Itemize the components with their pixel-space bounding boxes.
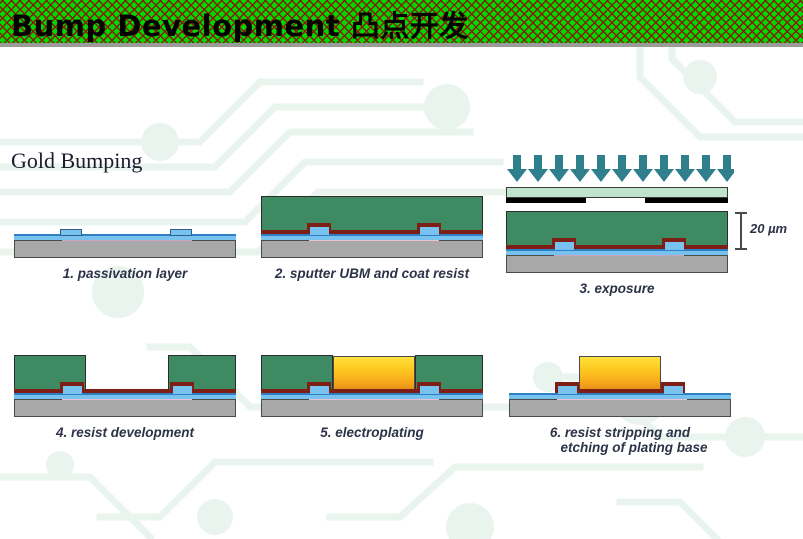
passivation-layer xyxy=(506,250,728,255)
pad-opening-1 xyxy=(60,229,82,236)
pad-opening-2 xyxy=(664,386,683,394)
ubm-layer xyxy=(14,389,236,393)
pad-opening-2 xyxy=(170,229,192,236)
substrate-layer xyxy=(14,399,236,417)
substrate-layer xyxy=(261,240,483,258)
photomask xyxy=(506,187,734,203)
step-3-caption: 3. exposure xyxy=(506,281,728,296)
uv-exposure-arrows xyxy=(506,155,734,183)
pad-opening-2 xyxy=(420,386,439,394)
passivation-layer xyxy=(509,394,731,399)
substrate-layer xyxy=(261,399,483,417)
page-title: Bump Development 凸点开发 xyxy=(11,3,469,45)
mask-chrome-right xyxy=(645,198,728,203)
step-4-diagram: 4. resist development xyxy=(14,355,242,437)
passivation-outline xyxy=(261,393,483,395)
passivation-layer xyxy=(261,394,483,399)
step-2-caption: 2. sputter UBM and coat resist xyxy=(252,266,492,281)
step-6-caption-line2: etching of plating base xyxy=(516,440,752,455)
pad-opening-1 xyxy=(310,227,329,235)
gold-bump xyxy=(579,356,661,390)
ubm-layer xyxy=(261,389,483,393)
step-2-diagram: 2. sputter UBM and coat resist xyxy=(258,196,486,278)
step-6-caption-line1: 6. resist stripping and xyxy=(502,425,738,440)
pad-opening-1 xyxy=(558,386,577,394)
mask-glass-plate xyxy=(506,187,728,198)
pad-opening-2 xyxy=(665,242,684,250)
step-5-diagram: 5. electroplating xyxy=(258,355,486,437)
passivation-layer xyxy=(261,235,483,240)
mask-chrome-left xyxy=(506,198,586,203)
step-6-diagram: 6. resist stripping and etching of plati… xyxy=(506,355,742,450)
substrate-layer xyxy=(14,240,236,258)
passivation-outline xyxy=(506,249,728,251)
resist-layer xyxy=(261,196,483,232)
step-1-diagram: 1. passivation layer xyxy=(14,228,236,278)
pad-opening-1 xyxy=(310,386,329,394)
step-5-caption: 5. electroplating xyxy=(254,425,490,440)
passivation-outline xyxy=(14,234,236,236)
ubm-layer xyxy=(579,389,661,393)
passivation-outline xyxy=(509,393,731,395)
step-1-caption: 1. passivation layer xyxy=(10,266,240,281)
ubm-layer xyxy=(261,230,483,234)
passivation-outline xyxy=(14,393,236,395)
passivation-layer xyxy=(14,235,236,240)
pad-opening-1 xyxy=(63,386,82,394)
section-heading: Gold Bumping xyxy=(11,148,142,174)
pad-opening-2 xyxy=(420,227,439,235)
step-4-caption: 4. resist development xyxy=(10,425,240,440)
passivation-outline xyxy=(261,234,483,236)
pad-opening-2 xyxy=(173,386,192,394)
substrate-layer xyxy=(506,255,728,273)
ubm-layer xyxy=(506,245,728,249)
resist-layer xyxy=(506,211,728,247)
dimension-label: 20 µm xyxy=(750,221,787,236)
pad-opening-1 xyxy=(555,242,574,250)
step-3-diagram: 20 µm 3. exposure xyxy=(502,155,738,285)
substrate-layer xyxy=(509,399,731,417)
gold-bump xyxy=(333,356,415,390)
passivation-layer xyxy=(14,394,236,399)
dimension-annotation xyxy=(734,211,748,251)
